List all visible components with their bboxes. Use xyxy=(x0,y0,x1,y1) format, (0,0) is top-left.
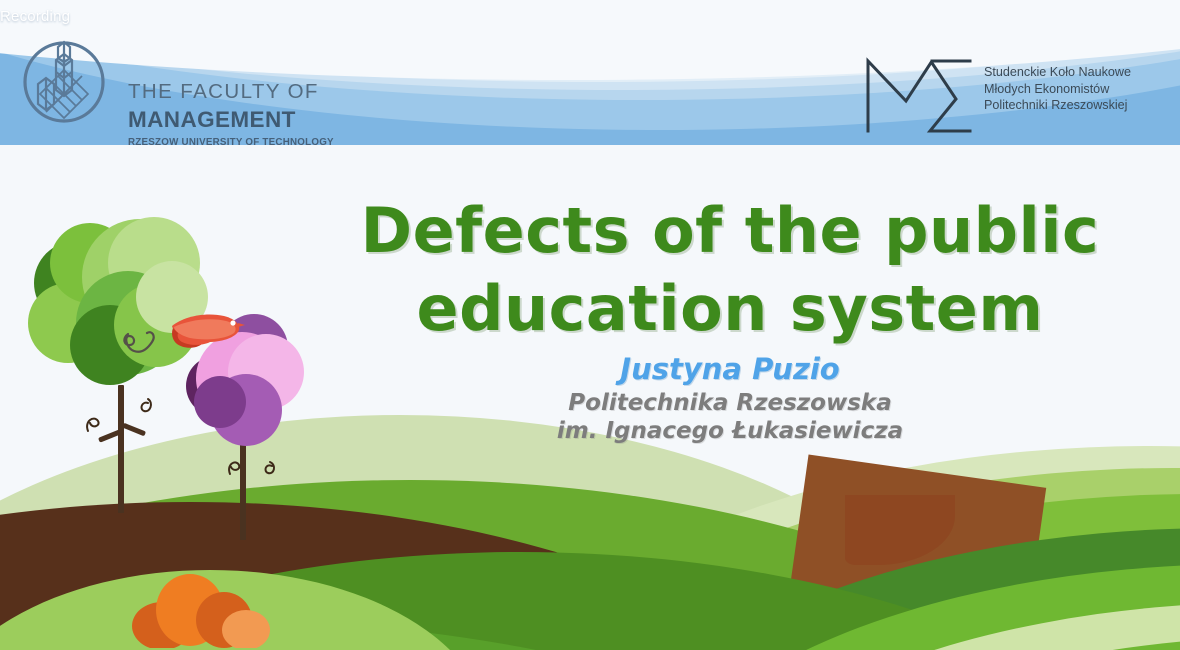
student-club-line1: Studenckie Koło Naukowe xyxy=(984,64,1169,81)
slide-affiliation-line1: Politechnika Rzeszowska xyxy=(330,389,1130,417)
faculty-logo-line1: THE FACULTY OF xyxy=(128,82,358,103)
slide-author: Justyna Puzio xyxy=(330,352,1130,386)
bird-icon xyxy=(160,308,246,354)
rzeszow-tower-emblem-icon xyxy=(18,32,110,124)
student-club-line3: Politechniki Rzeszowskiej xyxy=(984,97,1169,114)
slide-title-line2: education system xyxy=(330,270,1130,348)
student-club-line2: Młodych Ekonomistów xyxy=(984,81,1169,98)
green-tree-swirl-2 xyxy=(120,391,160,423)
purple-tree-swirl-2 xyxy=(244,454,284,484)
decorative-swirl xyxy=(120,318,170,362)
me-monogram-icon xyxy=(862,55,974,135)
student-club-logo: Studenckie Koło Naukowe Młodych Ekonomis… xyxy=(862,52,1162,142)
faculty-logo-line2: MANAGEMENT xyxy=(128,107,358,133)
slide-title-line1: Defects of the public xyxy=(361,194,1100,267)
recording-indicator-label: Recording xyxy=(0,8,70,25)
faculty-logo: THE FACULTY OF MANAGEMENT RZESZOW UNIVER… xyxy=(18,28,348,138)
slide-affiliation: Politechnika Rzeszowska im. Ignacego Łuk… xyxy=(330,389,1130,445)
slide-title: Defects of the public education system xyxy=(330,192,1130,348)
presentation-slide: THE FACULTY OF MANAGEMENT RZESZOW UNIVER… xyxy=(0,0,1180,650)
green-tree-branch-right xyxy=(122,423,146,437)
slide-affiliation-line2: im. Ignacego Łukasiewicza xyxy=(330,417,1130,445)
green-tree-swirl xyxy=(82,405,122,437)
orange-bush xyxy=(128,568,288,648)
faculty-logo-line3: RZESZOW UNIVERSITY OF TECHNOLOGY xyxy=(128,138,349,148)
